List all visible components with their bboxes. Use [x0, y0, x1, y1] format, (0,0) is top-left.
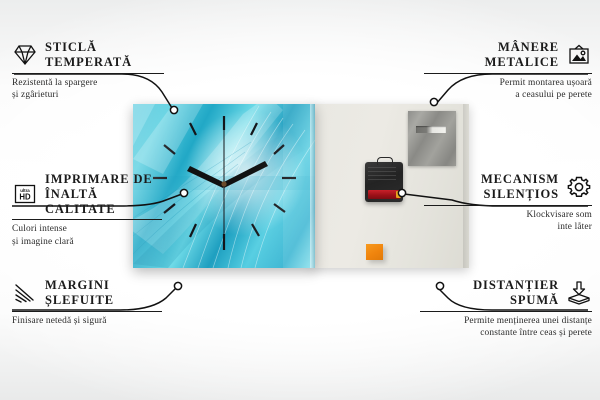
gear-icon: [566, 174, 592, 200]
infographic-canvas: STICLĂ TEMPERATĂ Rezistentă la spargere …: [0, 0, 600, 400]
feature-sub-line2: a ceasului pe perete: [424, 89, 592, 102]
feature-tempered-glass: STICLĂ TEMPERATĂ Rezistentă la spargere …: [12, 40, 164, 102]
feature-title-line1: MECANISM: [481, 172, 559, 187]
feature-high-quality-print: ultra HD IMPRIMARE DE ÎNALTĂ CALITATE Cu…: [12, 172, 162, 249]
movement-hook: [377, 157, 393, 165]
feature-sub-line1: Rezistentă la spargere: [12, 77, 164, 90]
feature-title-line1: IMPRIMARE DE: [45, 172, 162, 187]
feature-title-line2: METALICE: [485, 55, 559, 70]
feature-divider: [12, 219, 162, 220]
feature-sub-line2: inte låter: [424, 221, 592, 234]
feature-sub-line2: constante între ceas și perete: [420, 327, 592, 340]
feature-title-line2: ÎNALTĂ CALITATE: [45, 187, 162, 217]
feature-title-line1: MÂNERE: [485, 40, 559, 55]
feature-title-line1: MARGINI: [45, 278, 114, 293]
feature-divider: [12, 311, 162, 312]
diagonal-lines-icon: [12, 280, 38, 306]
feature-sub-line1: Permit montarea ușoară: [424, 77, 592, 90]
feature-polished-edges: MARGINI ȘLEFUITE Finisare netedă și sigu…: [12, 278, 162, 327]
feature-sub-line1: Permite menținerea unei distanțe: [420, 315, 592, 328]
feature-title-line1: STICLĂ: [45, 40, 132, 55]
diamond-icon: [12, 42, 38, 68]
feature-sub-line2: și imagine clară: [12, 236, 162, 249]
feature-divider: [424, 73, 592, 74]
foam-spacer-pad: [366, 244, 383, 260]
feature-title-line1: DISTANȚIER: [473, 278, 559, 293]
metal-hanger-plate: [408, 111, 456, 166]
feature-sub-line1: Culori intense: [12, 223, 162, 236]
feature-silent-mechanism: MECANISM SILENȚIOS Klockvisare som inte …: [424, 172, 592, 234]
aa-battery: [368, 190, 400, 199]
feature-divider: [12, 73, 164, 74]
feature-sub-line1: Klockvisare som: [424, 209, 592, 222]
feature-title-line2: ȘLEFUITE: [45, 293, 114, 308]
feature-sub-line2: și zgârieturi: [12, 89, 164, 102]
feature-title-line2: SILENȚIOS: [481, 187, 559, 202]
feature-divider: [424, 205, 592, 206]
feature-metal-handles: MÂNERE METALICE Permit montarea ușoară a…: [424, 40, 592, 102]
quartz-movement-box: [365, 162, 403, 202]
arrow-onto-foam-icon: [566, 280, 592, 306]
feature-sub-line1: Finisare netedă și sigură: [12, 315, 162, 328]
leader-dot-edges: [174, 282, 181, 289]
feature-title-line2: TEMPERATĂ: [45, 55, 132, 70]
feature-title-line2: SPUMĂ: [473, 293, 559, 308]
badge-large-text: HD: [19, 193, 31, 202]
feature-divider: [420, 311, 592, 312]
glass-right-edge: [310, 104, 315, 268]
feature-foam-spacer: DISTANȚIER SPUMĂ Permite menținerea unei…: [420, 278, 592, 340]
ultra-hd-badge-icon: ultra HD: [12, 181, 38, 207]
hanging-picture-frame-icon: [566, 42, 592, 68]
product-image: [133, 104, 469, 268]
hanger-slot: [416, 126, 446, 133]
movement-label-lines: [368, 167, 396, 185]
